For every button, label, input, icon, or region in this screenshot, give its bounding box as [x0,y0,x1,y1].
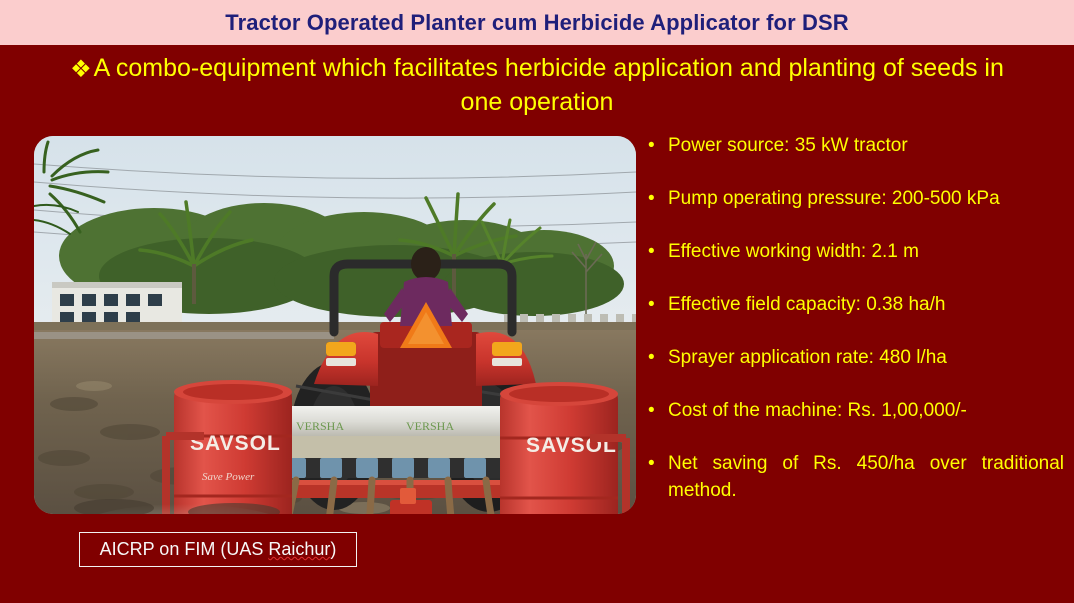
slide-header-band: Tractor Operated Planter cum Herbicide A… [0,0,1074,45]
subtitle-text: A combo-equipment which facilitates herb… [94,54,1004,116]
caption-prefix: AICRP on FIM (UAS [100,539,269,559]
list-item: • Net saving of Rs. 450/ha over traditio… [648,450,1064,504]
bullet-dot-icon: • [648,238,668,265]
bullet-dot-icon: • [648,344,668,371]
bullet-dot-icon: • [648,185,668,212]
field-photo-illustration: SUGNA SUGNA TMT BARS [34,136,636,514]
caption-suffix: ) [330,539,336,559]
specs-list: • Power source: 35 kW tractor • Pump ope… [648,132,1064,504]
list-item: • Power source: 35 kW tractor [648,132,1064,159]
caption-misspelled-word: Raichur [268,539,330,559]
page-title: Tractor Operated Planter cum Herbicide A… [225,10,848,36]
list-item: • Pump operating pressure: 200-500 kPa [648,185,1064,212]
field-photo: SUGNA SUGNA TMT BARS [34,136,636,514]
photo-caption-box: AICRP on FIM (UAS Raichur) [79,532,357,567]
bullet-dot-icon: • [648,397,668,424]
list-item: • Sprayer application rate: 480 l/ha [648,344,1064,371]
list-item: • Effective working width: 2.1 m [648,238,1064,265]
bullet-dot-icon: • [648,291,668,318]
list-item: • Effective field capacity: 0.38 ha/h [648,291,1064,318]
list-item-label: Effective working width: 2.1 m [668,238,1064,265]
bullet-dot-icon: • [648,450,668,477]
diamond-bullet-icon: ❖ [70,56,92,83]
subtitle-line: ❖A combo-equipment which facilitates her… [60,52,1014,119]
svg-text:Save Power: Save Power [202,471,255,483]
list-item-label: Effective field capacity: 0.38 ha/h [668,291,1064,318]
list-item-label: Cost of the machine: Rs. 1,00,000/- [668,397,1064,424]
list-item-label: Pump operating pressure: 200-500 kPa [668,185,1064,212]
photo-caption-text: AICRP on FIM (UAS Raichur) [100,539,337,560]
list-item-label: Sprayer application rate: 480 l/ha [668,344,1064,371]
list-item-label: Net saving of Rs. 450/ha over traditiona… [668,450,1064,504]
svg-text:VERSHA: VERSHA [296,419,344,433]
list-item: • Cost of the machine: Rs. 1,00,000/- [648,397,1064,424]
list-item-label: Power source: 35 kW tractor [668,132,1064,159]
svg-text:VERSHA: VERSHA [406,419,454,433]
bullet-dot-icon: • [648,132,668,159]
subtitle-block: ❖A combo-equipment which facilitates her… [60,52,1014,119]
slide-root: Tractor Operated Planter cum Herbicide A… [0,0,1074,603]
